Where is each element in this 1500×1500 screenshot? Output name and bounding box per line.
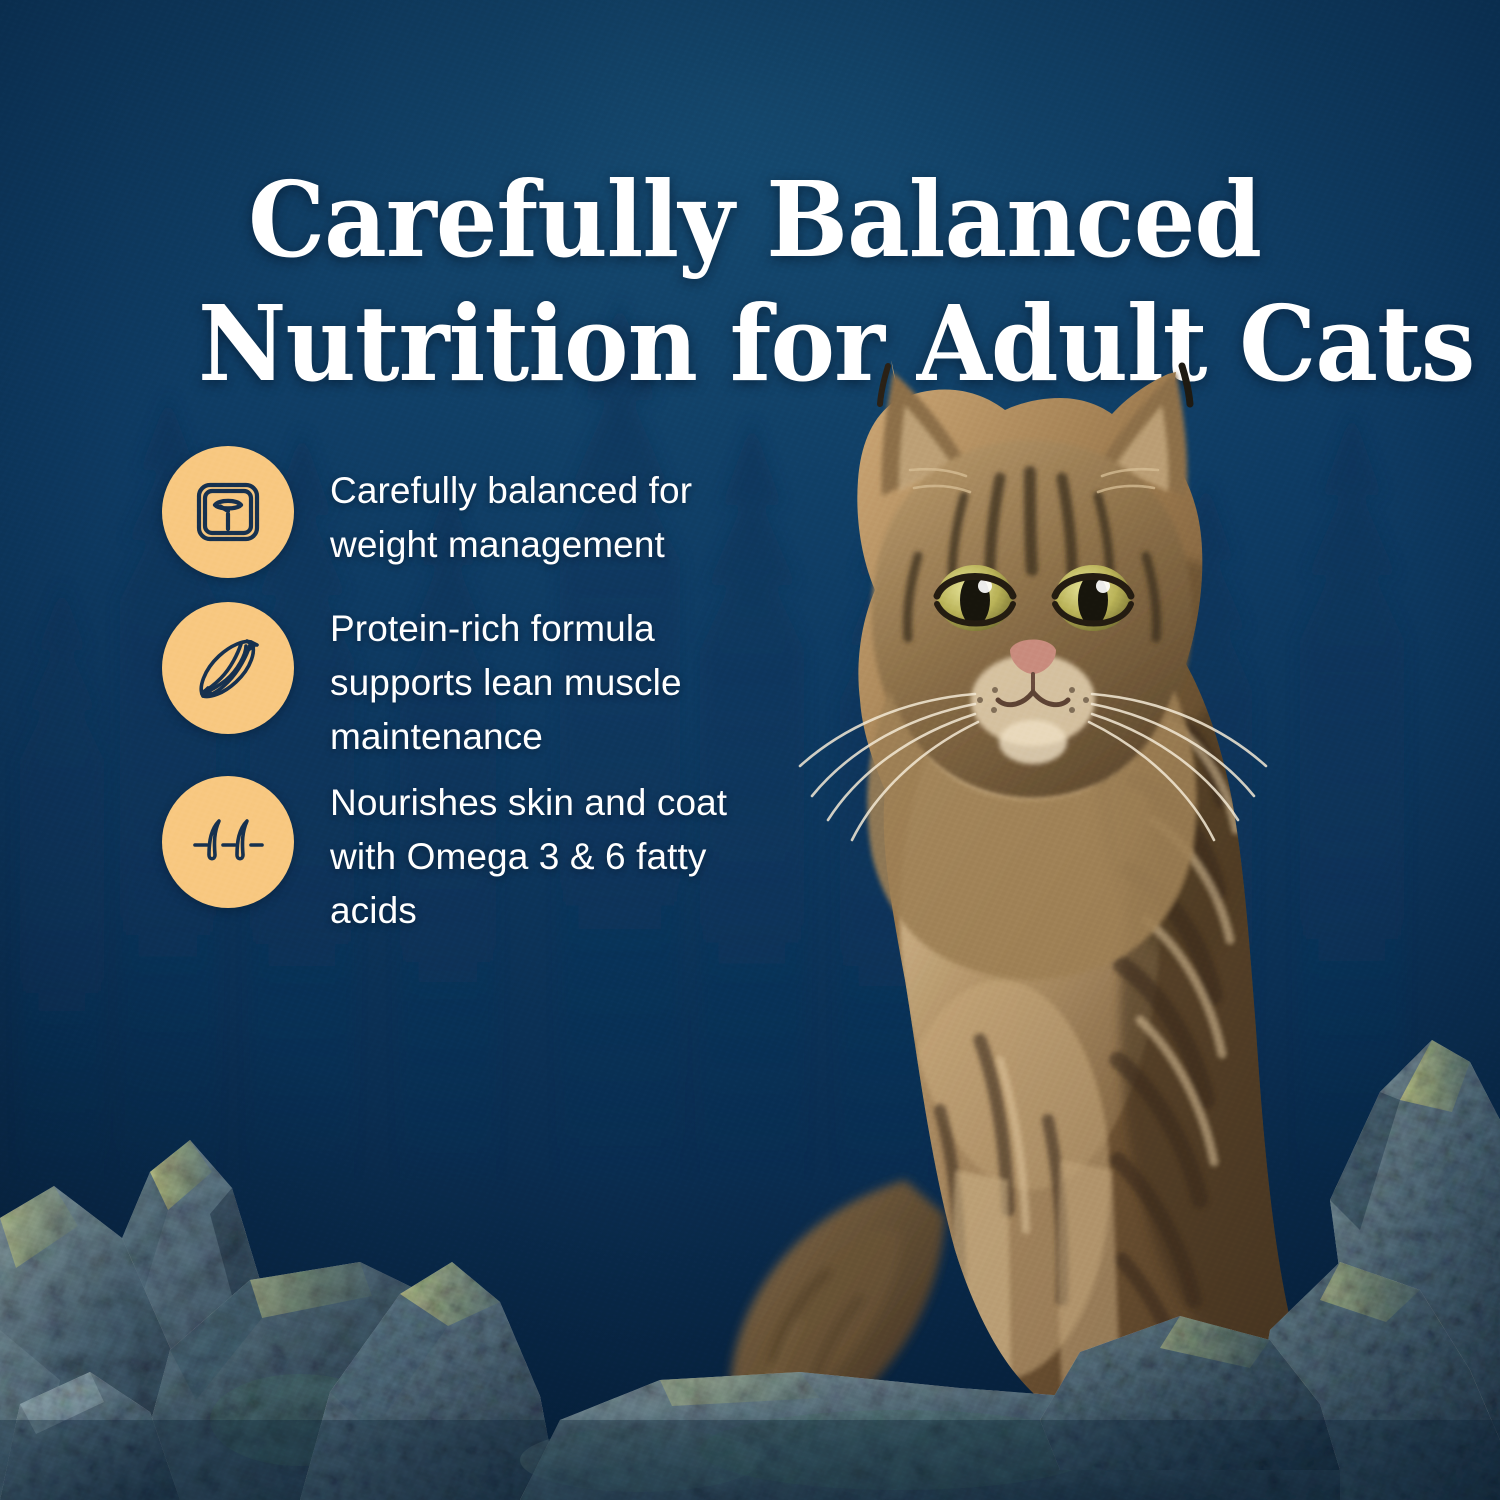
image-grain-overlay [0,0,1500,1500]
product-feature-banner: Carefully Balanced Nutrition for Adult C… [0,0,1500,1500]
